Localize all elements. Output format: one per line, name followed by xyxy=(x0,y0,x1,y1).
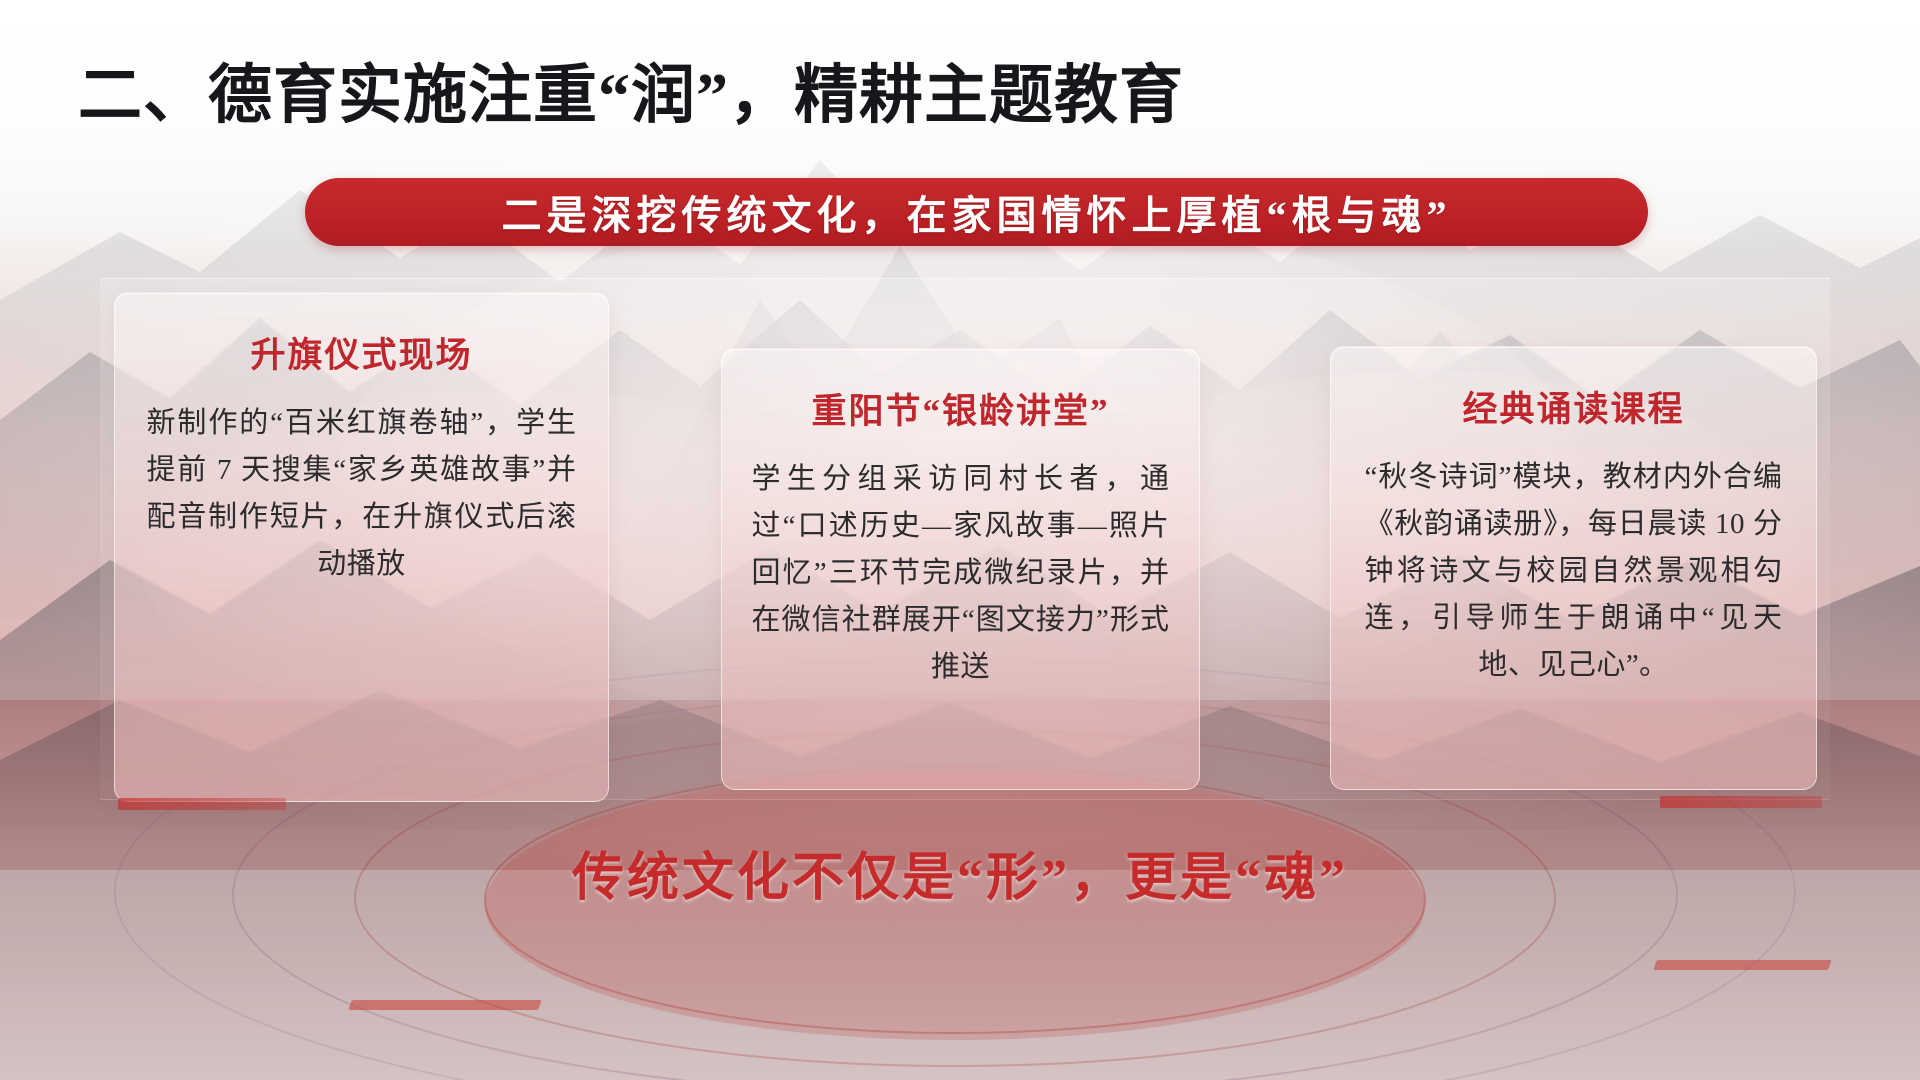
summary-tagline: 传统文化不仅是“形”，更是“魂” xyxy=(0,835,1920,910)
accent-bar-left xyxy=(118,798,286,810)
content-card[interactable]: 重阳节“银龄讲堂” 学生分组采访同村长者，通过“口述历史—家风故事—照片回忆”三… xyxy=(721,348,1200,790)
card-body: 学生分组采访同村长者，通过“口述历史—家风故事—照片回忆”三环节完成微纪录片，并… xyxy=(752,456,1170,691)
card-title: 升旗仪式现场 xyxy=(250,327,472,378)
content-card[interactable]: 经典诵读课程 “秋冬诗词”模块，教材内外合编《秋韵诵读册》，每日晨读 10 分钟… xyxy=(1330,346,1817,790)
card-body: “秋冬诗词”模块，教材内外合编《秋韵诵读册》，每日晨读 10 分钟将诗文与校园自… xyxy=(1365,454,1783,689)
card-group: 升旗仪式现场 新制作的“百米红旗卷轴”，学生提前 7 天搜集“家乡英雄故事”并配… xyxy=(0,0,1920,1080)
content-card[interactable]: 升旗仪式现场 新制作的“百米红旗卷轴”，学生提前 7 天搜集“家乡英雄故事”并配… xyxy=(114,292,609,802)
accent-bar-right xyxy=(1660,796,1822,808)
card-title: 经典诵读课程 xyxy=(1462,381,1684,432)
card-body: 新制作的“百米红旗卷轴”，学生提前 7 天搜集“家乡英雄故事”并配音制作短片，在… xyxy=(147,400,577,588)
card-title: 重阳节“银龄讲堂” xyxy=(811,383,1109,434)
decorative-dash-right xyxy=(1653,960,1832,970)
decorative-dash-left xyxy=(348,1000,542,1010)
